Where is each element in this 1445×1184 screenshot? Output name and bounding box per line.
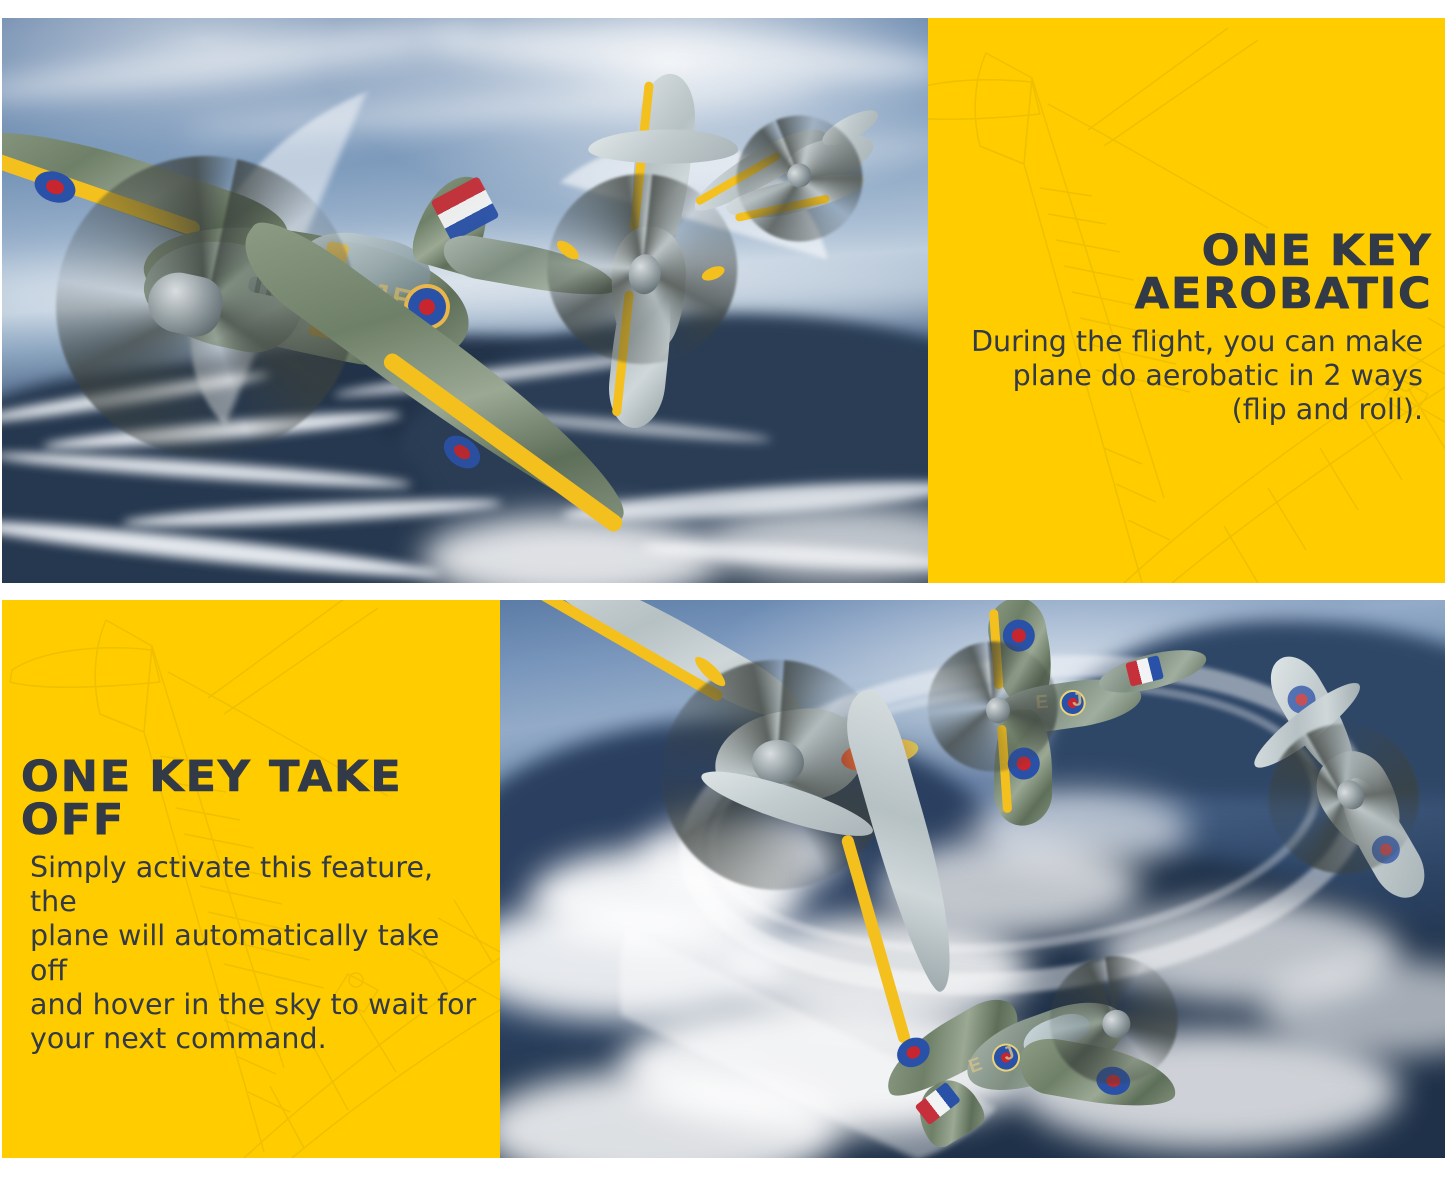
aircraft-loop-top: E J xyxy=(893,600,1193,770)
aerobatic-photo: JE xyxy=(2,18,928,583)
takeoff-copy: ONE KEY TAKE OFF Simply activate this fe… xyxy=(30,756,484,1056)
aerobatic-body-line-2: plane do aerobatic in 2 ways xyxy=(952,359,1423,393)
aerobatic-body-line-3: (flip and roll). xyxy=(952,393,1423,427)
takeoff-body-line-3: and hover in the sky to wait for xyxy=(30,988,484,1022)
aerobatic-feature-panel: ONE KEY AEROBATIC During the flight, you… xyxy=(928,18,1445,583)
takeoff-feature-panel: ONE KEY TAKE OFF Simply activate this fe… xyxy=(2,600,500,1158)
aerobatic-body-line-1: During the flight, you can make xyxy=(952,325,1423,359)
takeoff-photo: E J E J xyxy=(500,600,1445,1158)
takeoff-body-line-1: Simply activate this feature, the xyxy=(30,851,484,919)
aerobatic-headline: ONE KEY AEROBATIC xyxy=(943,230,1433,316)
product-feature-collage: JE xyxy=(0,0,1445,1184)
aerobatic-copy: ONE KEY AEROBATIC During the flight, you… xyxy=(952,230,1423,428)
takeoff-headline: ONE KEY TAKE OFF xyxy=(21,756,493,842)
takeoff-body-line-2: plane will automatically take off xyxy=(30,919,484,987)
takeoff-body-line-4: your next command. xyxy=(30,1022,484,1056)
